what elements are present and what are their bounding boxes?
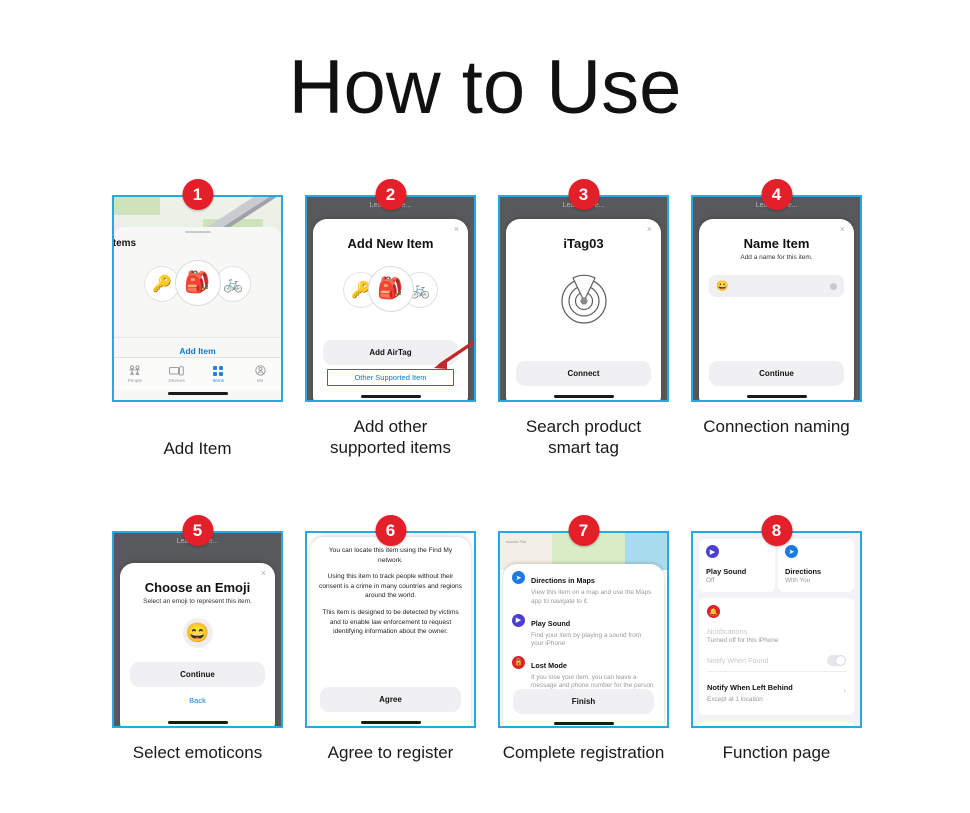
home-indicator xyxy=(747,395,807,398)
notifications-title: Notifications xyxy=(707,627,846,636)
steps-row-1: 1 Items 🔑 🚲 🎒 xyxy=(112,195,898,459)
feature-lost-mode-title: Lost Mode xyxy=(531,661,567,670)
sheet-title-3: iTag03 xyxy=(506,236,661,251)
card-play-sound-title: Play Sound xyxy=(706,567,768,576)
sheet-title-4: Name Item xyxy=(699,236,854,251)
row-notify-when-found-label: Notify When Found xyxy=(707,656,769,665)
step-badge-1: 1 xyxy=(182,179,213,210)
step-1-caption: Add Item xyxy=(112,438,283,459)
people-icon xyxy=(128,365,141,376)
agreement-text: You can locate this item using the Find … xyxy=(310,537,471,636)
step-badge-5: 5 xyxy=(182,515,213,546)
choose-emoji-sheet: × Choose an Emoji Select an emoji to rep… xyxy=(120,563,275,728)
close-icon[interactable]: × xyxy=(454,225,459,234)
step-4: 4 Learn More... × Name Item Add a name f… xyxy=(691,195,862,459)
step-5-caption: Select emoticons xyxy=(112,742,283,763)
continue-button[interactable]: Continue xyxy=(130,662,265,687)
feature-play-sound: ▶ Play Sound Find your item by playing a… xyxy=(512,613,655,649)
tab-items[interactable]: Items xyxy=(198,358,240,390)
step-2: 2 Learn More... × Add New Item 🔑 🚲 🎒 xyxy=(305,195,476,459)
feature-directions-title: Directions in Maps xyxy=(531,576,595,585)
other-supported-item-button[interactable]: Other Supported Item xyxy=(327,369,454,386)
step-badge-2: 2 xyxy=(375,179,406,210)
map-label: Aurelia Fila xyxy=(506,539,526,544)
page-title: How to Use xyxy=(0,0,970,128)
agreement-paragraph-1: You can locate this item using the Find … xyxy=(319,546,462,565)
add-new-item-sheet: × Add New Item 🔑 🚲 🎒 Add AirTag Other Su… xyxy=(313,219,468,402)
phone-mockup-5: 5 Learn More... × Choose an Emoji Select… xyxy=(112,531,283,728)
steps-grid: 1 Items 🔑 🚲 🎒 xyxy=(112,195,898,764)
back-button[interactable]: Back xyxy=(134,691,261,710)
items-grid-icon xyxy=(213,365,223,376)
step-6-caption: Agree to register xyxy=(305,742,476,763)
notifications-block: 🔔 Notifications Turned off for this iPho… xyxy=(699,598,854,715)
step-7: 7 Aurelia Fila ➤ Directions in Maps xyxy=(498,531,669,763)
step-2-caption-line-1: Add other xyxy=(305,416,476,437)
item-bubbles-2: 🔑 🚲 🎒 xyxy=(313,263,468,315)
phone-mockup-3: 3 Learn More... × iTag03 xyxy=(498,195,669,402)
phone-screen-6: You can locate this item using the Find … xyxy=(305,531,476,728)
tab-people-label: People xyxy=(128,378,142,383)
tab-bar: People Devices xyxy=(114,357,281,390)
tab-items-label: Items xyxy=(213,378,224,383)
lost-mode-icon: 🔒 xyxy=(512,656,525,669)
notifications-subtitle: Turned off for this iPhone xyxy=(707,637,846,644)
directions-icon: ➤ xyxy=(785,545,798,558)
notification-bell-icon: 🔔 xyxy=(707,605,720,618)
step-6: 6 You can locate this item using the Fin… xyxy=(305,531,476,763)
tab-me-label: Me xyxy=(257,378,263,383)
feature-play-sound-body: Find your item by playing a sound from y… xyxy=(531,632,655,649)
home-indicator xyxy=(168,392,228,395)
phone-mockup-1: 1 Items 🔑 🚲 🎒 xyxy=(112,195,283,402)
step-4-caption: Connection naming xyxy=(691,416,862,437)
phone-screen-8: ▶ Play Sound Off ➤ Directions With You xyxy=(691,531,862,728)
phone-mockup-2: 2 Learn More... × Add New Item 🔑 🚲 🎒 xyxy=(305,195,476,402)
step-3-caption: Search product smart tag xyxy=(498,416,669,459)
notify-when-found-toggle[interactable] xyxy=(827,655,846,666)
step-8-caption: Function page xyxy=(691,742,862,763)
name-item-sheet: × Name Item Add a name for this item. 😀 … xyxy=(699,219,854,402)
step-8: 8 ▶ Play Sound Off ➤ Directions xyxy=(691,531,862,763)
step-2-caption-line-2: supported items xyxy=(305,437,476,458)
lost-mode-block[interactable]: 🔒 Lost Mode xyxy=(699,721,854,728)
card-directions[interactable]: ➤ Directions With You xyxy=(778,539,854,592)
add-item-link[interactable]: Add Item xyxy=(114,337,281,356)
phone-screen-3: Learn More... × iTag03 xyxy=(498,195,669,402)
steps-row-2: 5 Learn More... × Choose an Emoji Select… xyxy=(112,531,898,763)
step-3: 3 Learn More... × iTag03 xyxy=(498,195,669,459)
row-notify-left-behind-subtitle: Except at 1 location xyxy=(707,696,793,703)
feature-list: ➤ Directions in Maps View this item on a… xyxy=(503,564,664,699)
bubble-backpack-icon: 🎒 xyxy=(368,266,414,312)
step-2-caption: Add other supported items xyxy=(305,416,476,459)
step-3-caption-line-1: Search product xyxy=(498,416,669,437)
sheet-subtitle-5: Select an emoji to represent this item. xyxy=(120,598,275,605)
selected-emoji[interactable]: 😄 xyxy=(183,618,213,648)
play-sound-icon: ▶ xyxy=(706,545,719,558)
agree-button[interactable]: Agree xyxy=(320,687,461,712)
row-notify-left-behind-label: Notify When Left Behind xyxy=(707,683,793,692)
features-sheet: ➤ Directions in Maps View this item on a… xyxy=(503,564,664,728)
card-play-sound-subtitle: Off xyxy=(706,577,768,584)
sheet-title-5: Choose an Emoji xyxy=(120,580,275,595)
phone-mockup-7: 7 Aurelia Fila ➤ Directions in Maps xyxy=(498,531,669,728)
bubble-backpack-icon: 🎒 xyxy=(175,260,221,306)
name-input[interactable]: 😀 xyxy=(709,275,844,297)
sheet-title-2: Add New Item xyxy=(313,236,468,251)
step-5: 5 Learn More... × Choose an Emoji Select… xyxy=(112,531,283,763)
phone-screen-5: Learn More... × Choose an Emoji Select a… xyxy=(112,531,283,728)
step-badge-8: 8 xyxy=(761,515,792,546)
feature-directions-body: View this item on a map and use the Maps… xyxy=(531,589,655,606)
close-icon[interactable]: × xyxy=(261,569,266,578)
sheet-subtitle-4: Add a name for this item. xyxy=(699,254,854,261)
tab-people[interactable]: People xyxy=(114,358,156,390)
step-badge-7: 7 xyxy=(568,515,599,546)
home-indicator xyxy=(168,721,228,724)
directions-icon: ➤ xyxy=(512,571,525,584)
phone-mockup-8: 8 ▶ Play Sound Off ➤ Directions xyxy=(691,531,862,728)
finish-button[interactable]: Finish xyxy=(513,689,654,714)
agreement-paragraph-3: This item is designed to be detected by … xyxy=(319,608,462,637)
devices-icon xyxy=(169,365,184,376)
phone-screen-1: Items 🔑 🚲 🎒 Add Item xyxy=(112,195,283,402)
sheet-grabber[interactable] xyxy=(185,231,211,233)
step-badge-4: 4 xyxy=(761,179,792,210)
continue-button[interactable]: Continue xyxy=(709,361,844,386)
items-list-title: Items xyxy=(112,238,281,249)
items-sheet: Items 🔑 🚲 🎒 Add Item xyxy=(114,227,281,400)
home-indicator xyxy=(361,395,421,398)
card-play-sound[interactable]: ▶ Play Sound Off xyxy=(699,539,775,592)
clear-icon[interactable] xyxy=(830,283,837,290)
function-page: ▶ Play Sound Off ➤ Directions With You xyxy=(693,533,860,726)
play-sound-icon: ▶ xyxy=(512,614,525,627)
row-notify-when-left-behind[interactable]: Notify When Left Behind Except at 1 loca… xyxy=(707,671,846,708)
agreement-sheet: You can locate this item using the Find … xyxy=(310,537,471,728)
agreement-paragraph-2: Using this item to track people without … xyxy=(319,572,462,601)
phone-screen-7: Aurelia Fila ➤ Directions in Maps View t… xyxy=(498,531,669,728)
step-3-caption-line-2: smart tag xyxy=(498,437,669,458)
name-input-emoji: 😀 xyxy=(716,281,728,292)
person-circle-icon xyxy=(255,365,266,376)
chevron-right-icon: › xyxy=(843,686,846,695)
close-icon[interactable]: × xyxy=(840,225,845,234)
home-indicator xyxy=(361,721,421,724)
step-1: 1 Items 🔑 🚲 🎒 xyxy=(112,195,283,459)
card-directions-subtitle: With You xyxy=(785,577,847,584)
card-directions-title: Directions xyxy=(785,567,847,576)
radar-search-icon xyxy=(506,269,661,327)
phone-screen-2: Learn More... × Add New Item 🔑 🚲 🎒 Add A… xyxy=(305,195,476,402)
item-bubbles: 🔑 🚲 🎒 xyxy=(114,257,281,309)
tab-devices-label: Devices xyxy=(168,378,184,383)
search-tag-sheet: × iTag03 xyxy=(506,219,661,402)
close-icon[interactable]: × xyxy=(647,225,652,234)
step-badge-3: 3 xyxy=(568,179,599,210)
tab-devices[interactable]: Devices xyxy=(156,358,198,390)
phone-mockup-4: 4 Learn More... × Name Item Add a name f… xyxy=(691,195,862,402)
feature-directions: ➤ Directions in Maps View this item on a… xyxy=(512,570,655,606)
phone-screen-4: Learn More... × Name Item Add a name for… xyxy=(691,195,862,402)
feature-play-sound-title: Play Sound xyxy=(531,619,570,628)
tab-me[interactable]: Me xyxy=(239,358,281,390)
phone-mockup-6: 6 You can locate this item using the Fin… xyxy=(305,531,476,728)
connect-button[interactable]: Connect xyxy=(516,361,651,386)
step-7-caption: Complete registration xyxy=(498,742,669,763)
add-airtag-button[interactable]: Add AirTag xyxy=(323,340,458,365)
home-indicator xyxy=(554,722,614,725)
row-notify-when-found[interactable]: Notify When Found xyxy=(707,650,846,671)
home-indicator xyxy=(554,395,614,398)
step-badge-6: 6 xyxy=(375,515,406,546)
